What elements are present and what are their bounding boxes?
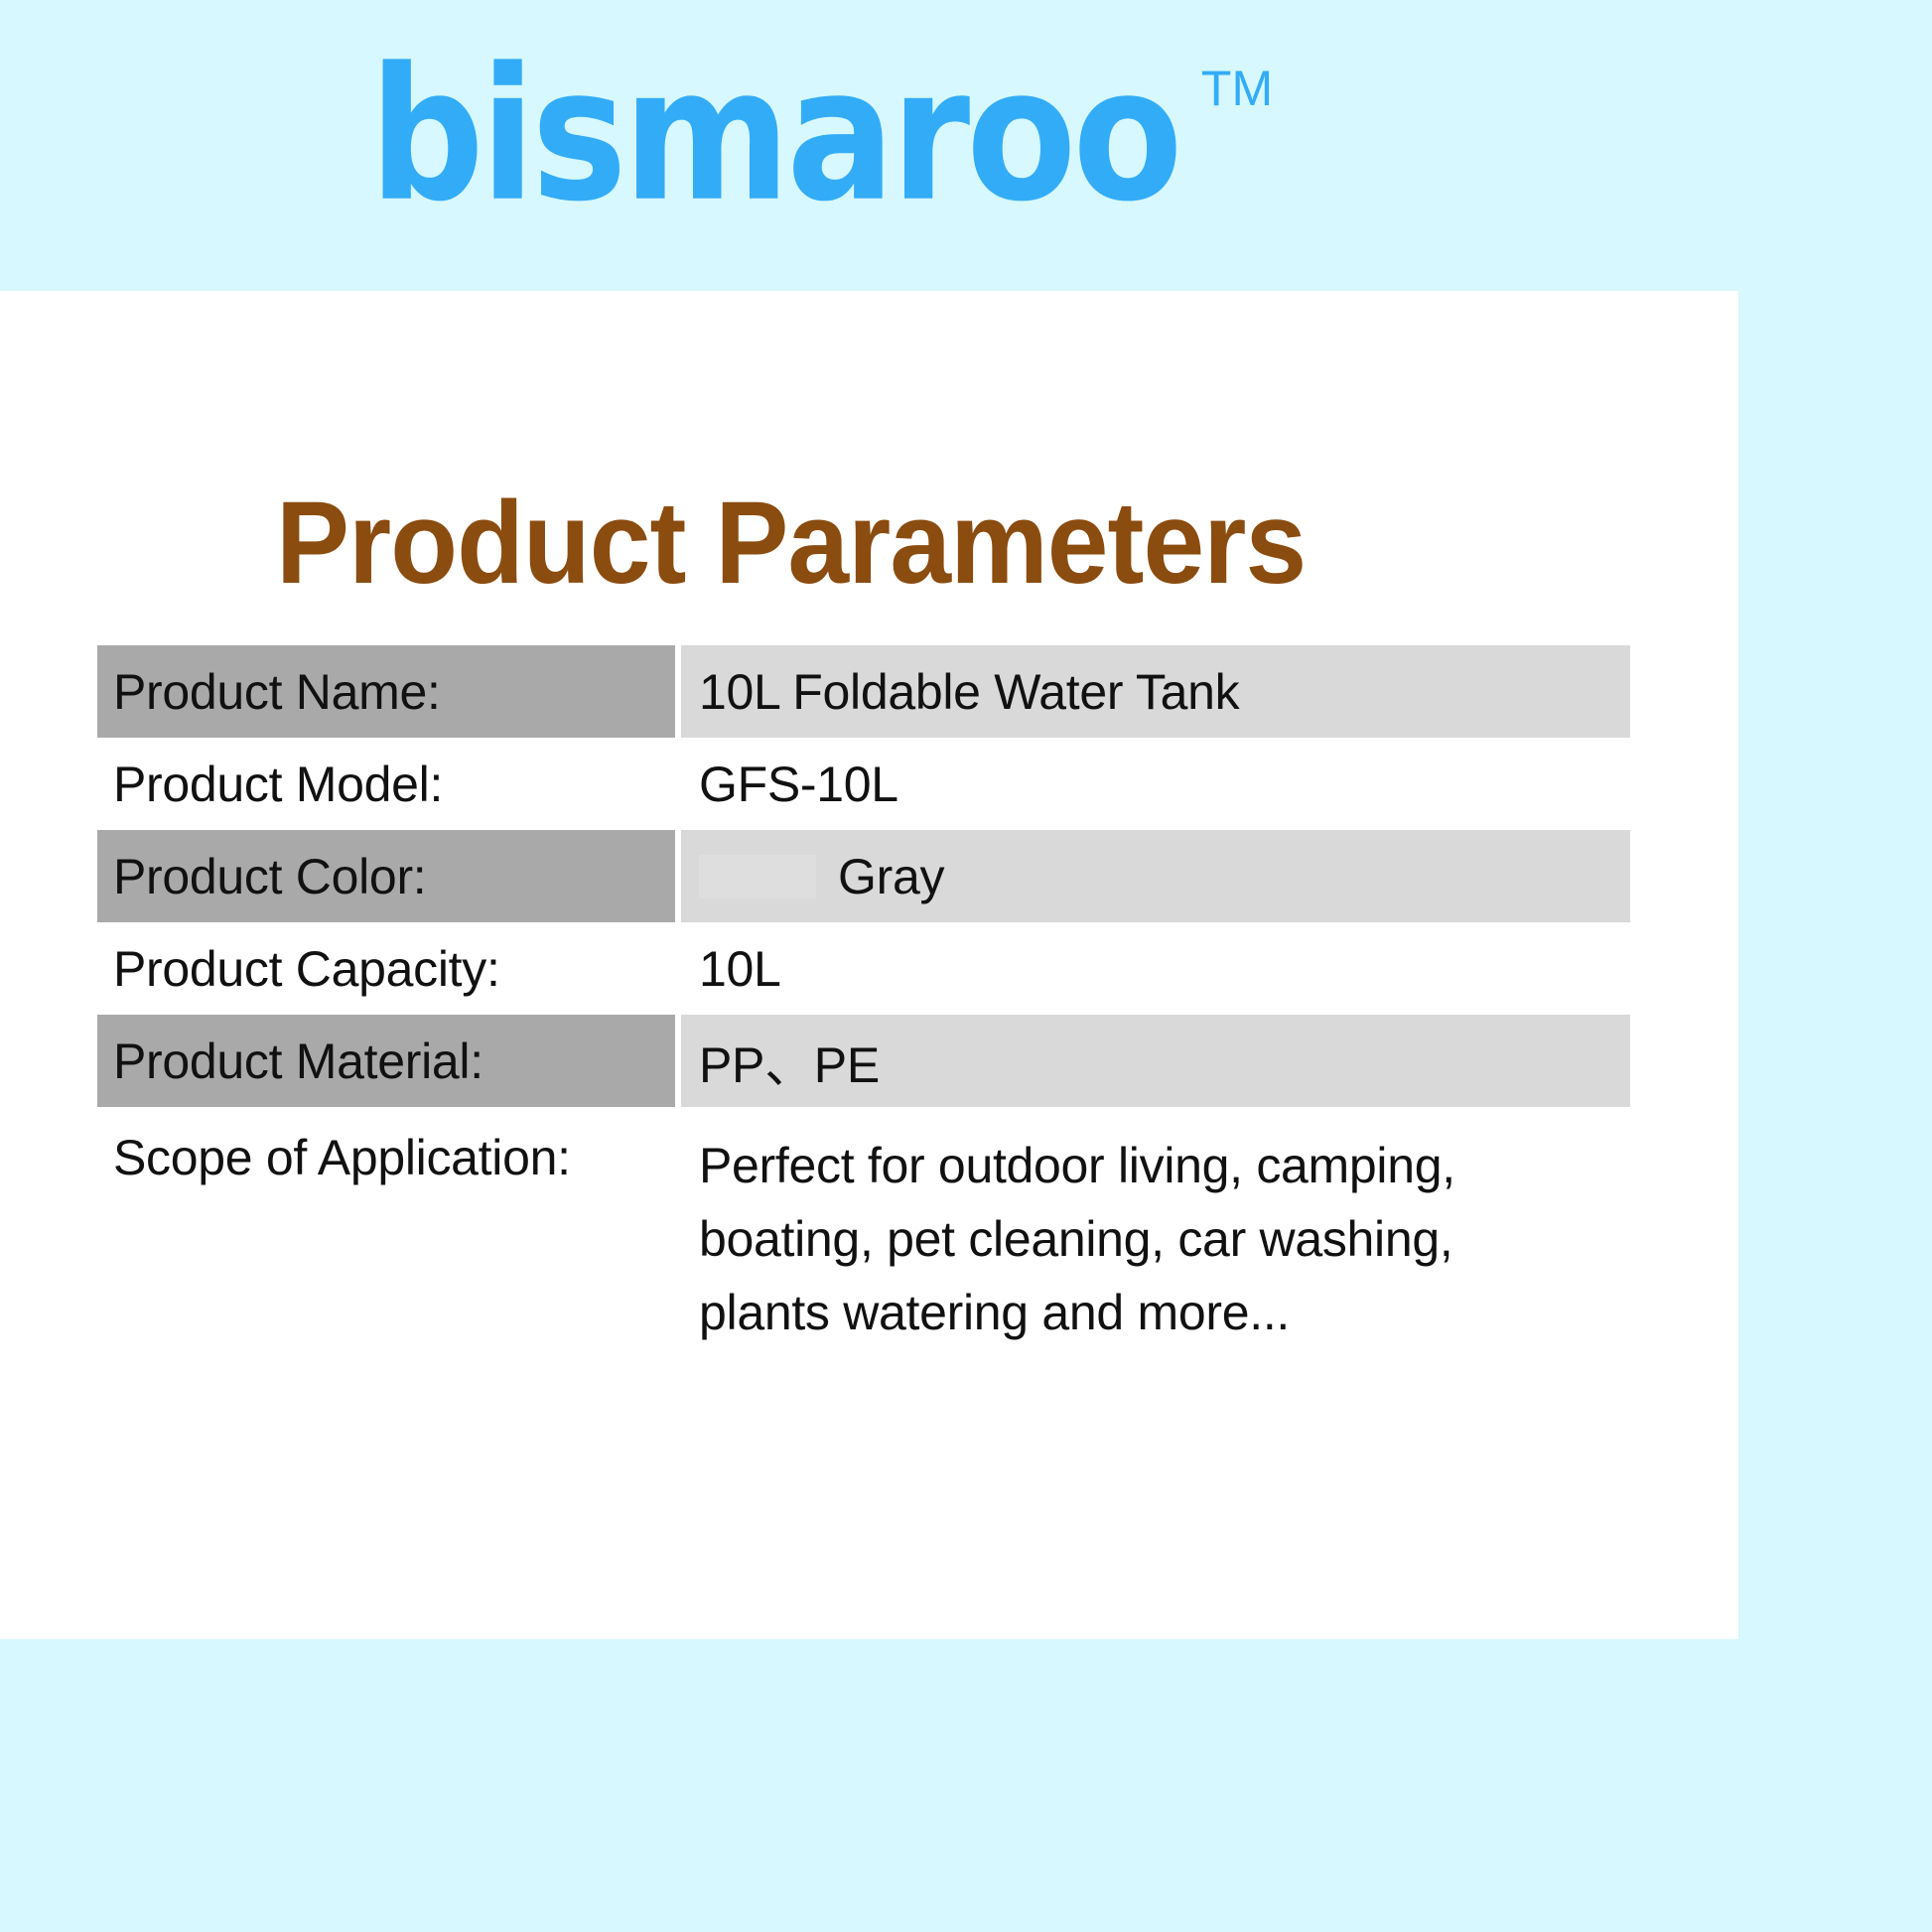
spec-value: PP、PE xyxy=(681,1015,1630,1107)
spec-label: Product Color: xyxy=(97,830,675,922)
footer-background-band xyxy=(0,1639,1932,1932)
content-card: Product Parameters Product Name: 10L Fol… xyxy=(0,291,1738,1639)
spec-value: Gray xyxy=(681,830,1630,922)
scope-line: Perfect for outdoor living, camping, xyxy=(699,1129,1630,1202)
spec-label: Scope of Application: xyxy=(97,1107,675,1186)
spec-value-text: Gray xyxy=(838,848,944,905)
table-row: Product Model: GFS-10L xyxy=(97,738,1631,830)
spec-value: Perfect for outdoor living, camping, boa… xyxy=(681,1107,1630,1349)
table-row: Product Color: Gray xyxy=(97,830,1631,922)
spec-value: 10L Foldable Water Tank xyxy=(681,645,1630,738)
header-band: bismaroo TM xyxy=(0,0,1932,291)
table-row: Product Name: 10L Foldable Water Tank xyxy=(97,645,1631,738)
table-row-scope: Scope of Application: Perfect for outdoo… xyxy=(97,1107,1631,1405)
brand-logo: bismaroo TM xyxy=(0,0,1932,291)
spec-value: 10L xyxy=(681,922,1630,1015)
page-title: Product Parameters xyxy=(276,484,1306,602)
spec-label: Product Name: xyxy=(97,645,675,738)
table-row: Product Material: PP、PE xyxy=(97,1015,1631,1107)
spec-label: Product Material: xyxy=(97,1015,675,1107)
spec-label: Product Capacity: xyxy=(97,922,675,1015)
spec-label: Product Model: xyxy=(97,738,675,830)
brand-wordmark: bismaroo xyxy=(369,44,1179,227)
spec-value: GFS-10L xyxy=(681,738,1630,830)
scope-line: boating, pet cleaning, car washing, xyxy=(699,1202,1630,1276)
table-row: Product Capacity: 10L xyxy=(97,922,1631,1015)
brand-wordmark-wrap: bismaroo TM xyxy=(369,54,1195,217)
trademark-icon: TM xyxy=(1201,60,1273,117)
right-background-band xyxy=(1738,291,1932,1639)
spec-table: Product Name: 10L Foldable Water Tank Pr… xyxy=(97,645,1631,1405)
color-swatch-ghost xyxy=(699,855,816,898)
scope-line: plants watering and more... xyxy=(699,1276,1630,1349)
